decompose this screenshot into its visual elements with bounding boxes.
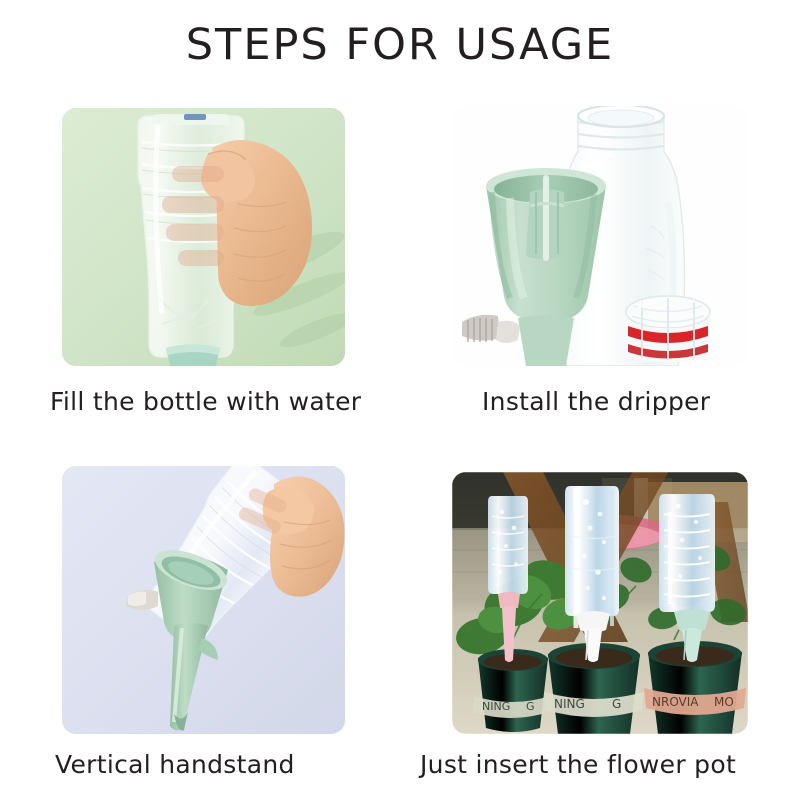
dripper-funnel-illustration — [452, 106, 748, 366]
step-2-caption: Install the dripper — [482, 387, 710, 416]
pot-label-5: NROVIA — [652, 695, 699, 709]
page-title: STEPS FOR USAGE — [0, 20, 800, 70]
vertical-handstand-illustration — [62, 466, 345, 734]
potted-plants-with-drippers-photo: NING G — [452, 472, 748, 734]
pot-label-4: G — [612, 697, 621, 711]
pot-label-1: NING — [482, 700, 510, 713]
pot-label-6: MO — [714, 695, 734, 709]
pot-label-3: NING — [554, 697, 585, 711]
step-3-image — [62, 466, 345, 734]
step-3-caption: Vertical handstand — [55, 750, 295, 779]
step-1-caption: Fill the bottle with water — [50, 387, 361, 416]
step-4-image: NING G — [452, 472, 748, 734]
step-1-image — [62, 108, 345, 366]
pot-label-2: G — [526, 700, 535, 713]
step-4-caption: Just insert the flower pot — [420, 750, 736, 779]
step-2-image — [452, 106, 748, 366]
usage-steps-infographic: STEPS FOR USAGE — [0, 0, 800, 800]
bottle-in-hand-illustration — [62, 108, 345, 366]
